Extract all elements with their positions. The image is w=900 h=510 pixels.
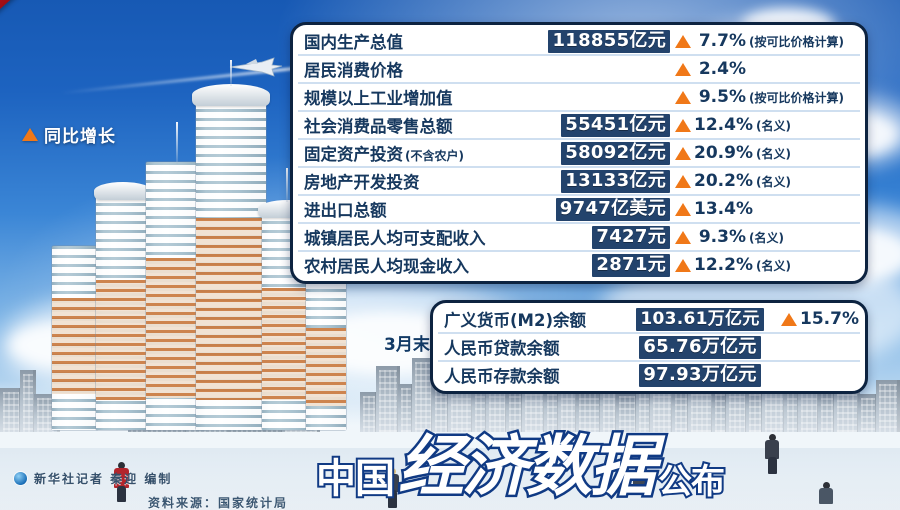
triangle-up-icon <box>675 91 691 104</box>
row-growth-cell: 9.3%(名义) <box>670 227 860 247</box>
row-note: (名义) <box>756 145 791 162</box>
tower <box>52 246 98 430</box>
row-sublabel: (不含农户) <box>405 147 464 164</box>
table-row: 规模以上工业增加值9.5%(按可比价格计算) <box>298 84 860 112</box>
tower <box>306 280 346 430</box>
table-row: 人民币贷款余额65.76万亿元 <box>438 334 860 362</box>
row-value-cell: 103.61万亿元 <box>624 308 776 331</box>
source-text: 资料来源：国家统计局 <box>148 494 288 510</box>
value-badge: 2871元 <box>592 254 670 277</box>
money-data-panel: 广义货币(M2)余额103.61万亿元15.7%人民币贷款余额65.76万亿元人… <box>430 300 868 394</box>
row-label-cell: 人民币存款余额 <box>438 363 624 387</box>
growth-percent: 20.2% <box>694 171 753 191</box>
row-growth-cell: 13.4% <box>670 199 860 219</box>
table-row: 社会消费品零售总额55451亿元12.4%(名义) <box>298 112 860 140</box>
row-label: 居民消费价格 <box>304 57 403 81</box>
month-label: 3月末 <box>384 330 430 355</box>
row-growth-cell: 15.7% <box>776 309 860 329</box>
growth-percent: 2.4% <box>694 59 746 79</box>
row-value-cell: 118855亿元 <box>534 30 670 53</box>
row-note: (名义) <box>756 257 791 274</box>
row-note: (名义) <box>756 117 791 134</box>
row-label: 人民币贷款余额 <box>444 335 560 359</box>
table-row: 广义货币(M2)余额103.61万亿元15.7% <box>438 306 860 334</box>
row-value-cell: 7427元 <box>534 226 670 249</box>
value-badge: 97.93万亿元 <box>639 364 760 387</box>
row-label: 城镇居民人均可支配收入 <box>304 225 486 249</box>
row-growth-cell: 12.4%(名义) <box>670 115 860 135</box>
table-row: 农村居民人均现金收入2871元12.2%(名义) <box>298 252 860 278</box>
row-label-cell: 广义货币(M2)余额 <box>438 307 624 331</box>
row-note: (名义) <box>749 229 784 246</box>
row-note: (按可比价格计算) <box>749 89 844 106</box>
row-label: 规模以上工业增加值 <box>304 85 453 109</box>
title-suffix: 公布 <box>658 466 724 498</box>
row-label: 社会消费品零售总额 <box>304 113 453 137</box>
value-badge: 118855亿元 <box>548 30 670 53</box>
row-label: 广义货币(M2)余额 <box>444 307 586 331</box>
row-label: 房地产开发投资 <box>304 169 420 193</box>
row-label-cell: 进出口总额 <box>298 197 534 221</box>
value-badge: 13133亿元 <box>561 170 670 193</box>
row-growth-cell: 20.9%(名义) <box>670 143 860 163</box>
table-row: 城镇居民人均可支配收入7427元9.3%(名义) <box>298 224 860 252</box>
growth-percent: 20.9% <box>694 143 753 163</box>
money-data-rows: 广义货币(M2)余额103.61万亿元15.7%人民币贷款余额65.76万亿元人… <box>433 303 865 391</box>
agency-logo-icon <box>14 472 27 485</box>
table-row: 房地产开发投资13133亿元20.2%(名义) <box>298 168 860 196</box>
row-value-cell: 9747亿美元 <box>534 198 670 221</box>
row-label-cell: 居民消费价格 <box>298 57 534 81</box>
growth-percent: 13.4% <box>694 199 753 219</box>
row-label-cell: 城镇居民人均可支配收入 <box>298 225 534 249</box>
table-row: 人民币存款余额97.93万亿元 <box>438 362 860 388</box>
antenna-mast <box>176 122 178 164</box>
triangle-up-icon <box>675 119 691 132</box>
row-note: (名义) <box>756 173 791 190</box>
row-note: (按可比价格计算) <box>749 33 844 50</box>
row-label-cell: 国内生产总值 <box>298 29 534 53</box>
value-badge: 65.76万亿元 <box>639 336 760 359</box>
row-label-cell: 人民币贷款余额 <box>438 335 624 359</box>
table-row: 进出口总额9747亿美元13.4% <box>298 196 860 224</box>
row-value-cell: 58092亿元 <box>534 142 670 165</box>
row-growth-cell: 7.7%(按可比价格计算) <box>670 31 860 51</box>
main-data-rows: 国内生产总值118855亿元7.7%(按可比价格计算)居民消费价格2.4%规模以… <box>293 25 865 281</box>
row-label: 人民币存款余额 <box>444 363 560 387</box>
triangle-up-icon <box>675 231 691 244</box>
growth-percent: 12.4% <box>694 115 753 135</box>
value-badge: 58092亿元 <box>561 142 670 165</box>
row-label: 进出口总额 <box>304 197 387 221</box>
byline: 新华社记者 秦迎 编制 <box>14 470 172 487</box>
triangle-up-icon <box>675 35 691 48</box>
row-label-cell: 社会消费品零售总额 <box>298 113 534 137</box>
tower-main <box>196 100 266 430</box>
triangle-up-icon <box>781 313 797 326</box>
table-row: 国内生产总值118855亿元7.7%(按可比价格计算) <box>298 28 860 56</box>
antenna-mast <box>286 168 288 202</box>
table-row: 居民消费价格2.4% <box>298 56 860 84</box>
triangle-up-icon <box>675 203 691 216</box>
row-growth-cell: 9.5%(按可比价格计算) <box>670 87 860 107</box>
row-label-cell: 规模以上工业增加值 <box>298 85 534 109</box>
tower <box>96 194 150 430</box>
title-prefix: 中国 <box>316 460 394 498</box>
infographic-canvas: 一季度 同比增长 国内生产总值118855亿元7.7%(按可比价格计算)居民消费… <box>0 0 900 510</box>
row-value-cell: 2871元 <box>534 254 670 277</box>
row-value-cell: 65.76万亿元 <box>624 336 776 359</box>
value-badge: 9747亿美元 <box>556 198 670 221</box>
growth-percent: 9.3% <box>694 227 746 247</box>
antenna-mast <box>230 60 232 86</box>
value-badge: 103.61万亿元 <box>636 308 763 331</box>
triangle-up-icon <box>675 175 691 188</box>
row-label: 农村居民人均现金收入 <box>304 253 469 277</box>
row-growth-cell: 20.2%(名义) <box>670 171 860 191</box>
title-main: 经济数据 <box>398 437 654 498</box>
triangle-up-icon <box>675 63 691 76</box>
page-title: 中国 经济数据 公布 <box>316 437 724 498</box>
growth-percent: 7.7% <box>694 31 746 51</box>
row-label-cell: 房地产开发投资 <box>298 169 534 193</box>
row-label: 国内生产总值 <box>304 29 403 53</box>
row-growth-cell: 2.4% <box>670 59 860 79</box>
value-badge: 7427元 <box>592 226 670 249</box>
legend-label: 同比增长 <box>44 122 116 147</box>
main-data-panel: 国内生产总值118855亿元7.7%(按可比价格计算)居民消费价格2.4%规模以… <box>290 22 868 284</box>
triangle-up-icon <box>675 259 691 272</box>
row-label-cell: 农村居民人均现金收入 <box>298 253 534 277</box>
row-value-cell: 13133亿元 <box>534 170 670 193</box>
row-growth-cell: 12.2%(名义) <box>670 255 860 275</box>
tower-cap <box>94 182 152 200</box>
row-label-cell: 固定资产投资(不含农户) <box>298 141 534 165</box>
legend: 同比增长 <box>22 122 116 147</box>
byline-text: 新华社记者 秦迎 编制 <box>34 470 172 487</box>
value-badge: 55451亿元 <box>561 114 670 137</box>
row-value-cell: 55451亿元 <box>534 114 670 137</box>
row-label: 固定资产投资(不含农户) <box>304 141 464 165</box>
triangle-up-icon <box>22 128 38 141</box>
growth-percent: 9.5% <box>694 87 746 107</box>
airplane-icon <box>228 56 284 78</box>
triangle-up-icon <box>675 147 691 160</box>
growth-percent: 12.2% <box>694 255 753 275</box>
table-row: 固定资产投资(不含农户)58092亿元20.9%(名义) <box>298 140 860 168</box>
growth-percent: 15.7% <box>800 309 859 329</box>
row-value-cell: 97.93万亿元 <box>624 364 776 387</box>
tower-cap <box>192 84 270 106</box>
